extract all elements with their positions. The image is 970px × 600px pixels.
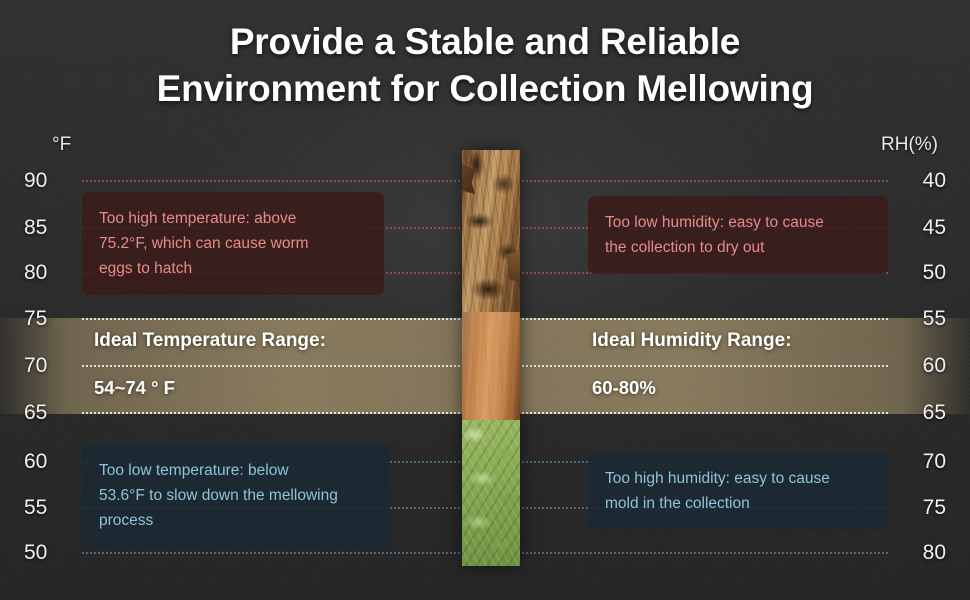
ideal-temperature-label: Ideal Temperature Range: (94, 330, 424, 352)
right-axis-caption: RH(%) (881, 134, 938, 156)
left-tick-60: 60 (24, 451, 70, 472)
right-tick-75: 75 (900, 497, 946, 518)
title-line-1: Provide a Stable and Reliable (0, 18, 970, 65)
ideal-humidity-value: 60-80% (592, 377, 922, 399)
callout-too-high-humidity-line-2: mold in the collection (605, 491, 871, 516)
callout-too-high-temperature: Too high temperature: above 75.2°F, whic… (82, 192, 384, 295)
right-tick-65: 65 (900, 402, 946, 423)
ideal-humidity-block: Ideal Humidity Range: 60-80% (592, 330, 922, 399)
cigar-ideal-section (462, 312, 520, 420)
ideal-humidity-label: Ideal Humidity Range: (592, 330, 922, 352)
right-tick-80: 80 (900, 542, 946, 563)
right-tick-50: 50 (900, 262, 946, 283)
left-tick-65: 65 (24, 402, 70, 423)
left-tick-85: 85 (24, 217, 70, 238)
left-tick-50: 50 (24, 542, 70, 563)
ideal-temperature-value: 54~74 ° F (94, 377, 424, 399)
right-tick-45: 45 (900, 217, 946, 238)
callout-too-low-temperature-line-2: 53.6°F to slow down the mellowing (99, 483, 373, 508)
right-tick-55: 55 (900, 308, 946, 329)
title-line-2: Environment for Collection Mellowing (0, 65, 970, 112)
left-axis-caption: °F (52, 134, 71, 156)
infographic-poster: Provide a Stable and Reliable Environmen… (0, 0, 970, 600)
left-tick-90: 90 (24, 170, 70, 191)
cigar-moldy-section (462, 420, 520, 566)
left-tick-55: 55 (24, 497, 70, 518)
callout-too-low-temperature-line-1: Too low temperature: below (99, 458, 373, 483)
right-tick-70: 70 (900, 451, 946, 472)
right-tick-40: 40 (900, 170, 946, 191)
right-tick-60: 60 (900, 355, 946, 376)
callout-too-high-temperature-line-2: 75.2°F, which can cause worm (99, 231, 367, 256)
cigar-photo (462, 150, 520, 566)
callout-too-high-humidity-line-1: Too high humidity: easy to cause (605, 466, 871, 491)
callout-too-low-temperature-line-3: process (99, 508, 373, 533)
cigar-dry-section (462, 150, 520, 312)
callout-too-high-temperature-line-3: eggs to hatch (99, 256, 367, 281)
callout-too-low-humidity: Too low humidity: easy to cause the coll… (588, 196, 888, 274)
ideal-temperature-block: Ideal Temperature Range: 54~74 ° F (94, 330, 424, 399)
left-tick-75: 75 (24, 308, 70, 329)
callout-too-high-humidity: Too high humidity: easy to cause mold in… (588, 452, 888, 530)
callout-too-high-temperature-line-1: Too high temperature: above (99, 206, 367, 231)
callout-too-low-temperature: Too low temperature: below 53.6°F to slo… (82, 444, 390, 547)
callout-too-low-humidity-line-1: Too low humidity: easy to cause (605, 210, 871, 235)
left-tick-70: 70 (24, 355, 70, 376)
callout-too-low-humidity-line-2: the collection to dry out (605, 235, 871, 260)
left-tick-80: 80 (24, 262, 70, 283)
page-title: Provide a Stable and Reliable Environmen… (0, 18, 970, 112)
